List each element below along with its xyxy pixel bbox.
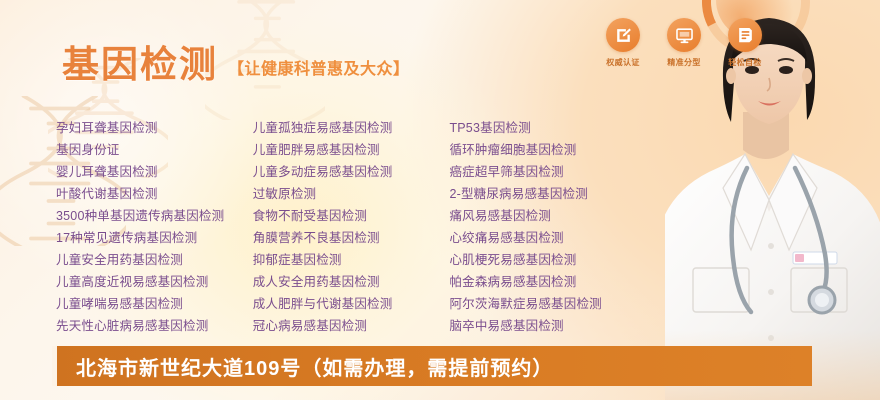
list-item[interactable]: 3500种单基因遗传病基因检测: [56, 205, 253, 227]
list-item[interactable]: 先天性心脏病易感基因检测: [56, 315, 253, 337]
list-item[interactable]: 孕妇耳聋基因检测: [56, 117, 253, 139]
badge-circle: [728, 18, 762, 52]
badge-easy-self-test[interactable]: 轻松自检: [720, 18, 770, 68]
badge-circle: [667, 18, 701, 52]
list-item[interactable]: 成人安全用药基因检测: [253, 271, 450, 293]
document-report-icon: [736, 26, 755, 45]
list-item[interactable]: 儿童哮喘易感基因检测: [56, 293, 253, 315]
feature-badges: 权威认证 精准分型 轻松自检: [598, 18, 770, 68]
list-item[interactable]: 帕金森病易感基因检测: [449, 271, 656, 293]
badge-circle: [606, 18, 640, 52]
list-item[interactable]: 癌症超早筛基因检测: [449, 161, 656, 183]
list-item[interactable]: 过敏原检测: [253, 183, 450, 205]
list-item[interactable]: 循环肿瘤细胞基因检测: [449, 139, 656, 161]
monitor-icon: [675, 26, 694, 45]
list-item[interactable]: 2-型糖尿病易感基因检测: [449, 183, 656, 205]
test-items-list: 孕妇耳聋基因检测 基因身份证 婴儿耳聋基因检测 叶酸代谢基因检测 3500种单基…: [56, 117, 656, 337]
list-item[interactable]: 儿童孤独症易感基因检测: [253, 117, 450, 139]
address-text: 北海市新世纪大道109号（如需办理，需提前预约）: [76, 352, 553, 381]
list-item[interactable]: 脑卒中易感基因检测: [449, 315, 656, 337]
list-item[interactable]: 成人肥胖与代谢基因检测: [253, 293, 450, 315]
address-bar: 北海市新世纪大道109号（如需办理，需提前预约）: [52, 346, 812, 386]
list-item[interactable]: 基因身份证: [56, 139, 253, 161]
badge-label: 轻松自检: [728, 57, 762, 68]
list-item[interactable]: 阿尔茨海默症易感基因检测: [449, 293, 656, 315]
list-item[interactable]: 痛风易感基因检测: [449, 205, 656, 227]
list-item[interactable]: 儿童多动症易感基因检测: [253, 161, 450, 183]
list-item[interactable]: 食物不耐受基因检测: [253, 205, 450, 227]
list-item[interactable]: 儿童安全用药基因检测: [56, 249, 253, 271]
list-item[interactable]: 儿童肥胖易感基因检测: [253, 139, 450, 161]
list-item[interactable]: 儿童高度近视易感基因检测: [56, 271, 253, 293]
list-column-1: 孕妇耳聋基因检测 基因身份证 婴儿耳聋基因检测 叶酸代谢基因检测 3500种单基…: [56, 117, 253, 337]
list-item[interactable]: 心肌梗死易感基因检测: [449, 249, 656, 271]
list-item[interactable]: 叶酸代谢基因检测: [56, 183, 253, 205]
edit-certificate-icon: [614, 26, 633, 45]
list-item[interactable]: 冠心病易感基因检测: [253, 315, 450, 337]
list-item[interactable]: 心绞痛易感基因检测: [449, 227, 656, 249]
list-item[interactable]: 角膜营养不良基因检测: [253, 227, 450, 249]
badge-label: 权威认证: [606, 57, 640, 68]
badge-precise-typing[interactable]: 精准分型: [659, 18, 709, 68]
badge-label: 精准分型: [667, 57, 701, 68]
list-item[interactable]: 抑郁症基因检测: [253, 249, 450, 271]
list-column-3: TP53基因检测 循环肿瘤细胞基因检测 癌症超早筛基因检测 2-型糖尿病易感基因…: [449, 117, 656, 337]
list-item[interactable]: 婴儿耳聋基因检测: [56, 161, 253, 183]
badge-authority-certification[interactable]: 权威认证: [598, 18, 648, 68]
poster-header: 基因检测 【让健康科普惠及大众】: [62, 46, 410, 83]
list-column-2: 儿童孤独症易感基因检测 儿童肥胖易感基因检测 儿童多动症易感基因检测 过敏原检测…: [253, 117, 450, 337]
list-item[interactable]: TP53基因检测: [449, 117, 656, 139]
page-title: 基因检测: [62, 46, 218, 83]
list-item[interactable]: 17种常见遗传病基因检测: [56, 227, 253, 249]
page-subtitle: 【让健康科普惠及大众】: [228, 55, 410, 79]
